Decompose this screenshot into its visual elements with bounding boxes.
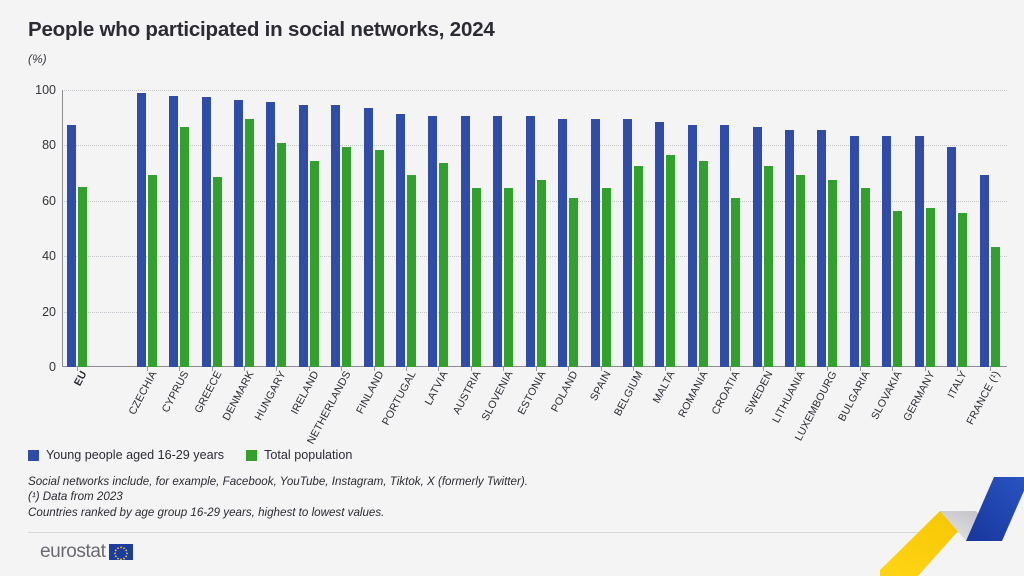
bar xyxy=(375,150,384,367)
bar xyxy=(699,161,708,367)
bar xyxy=(428,116,437,367)
x-axis-category-label: ROMANIA xyxy=(676,369,710,420)
bar xyxy=(655,122,664,367)
bar-group xyxy=(817,90,837,367)
bar xyxy=(234,100,243,367)
bar xyxy=(850,136,859,367)
bar-series-container xyxy=(63,90,1007,367)
bar xyxy=(817,130,826,367)
x-axis-category-label: POLAND xyxy=(549,369,581,414)
bar xyxy=(67,125,76,367)
bar xyxy=(439,163,448,367)
y-axis-tick-label: 0 xyxy=(49,360,56,374)
bar-group xyxy=(137,90,157,367)
bar xyxy=(277,143,286,367)
x-axis-category-label: SLOVENIA xyxy=(480,369,516,423)
bar-group xyxy=(461,90,481,367)
x-axis-category-label: FRANCE (¹) xyxy=(964,369,1002,427)
x-axis-category-label: LATVIA xyxy=(423,369,451,407)
bar xyxy=(364,108,373,367)
bar xyxy=(461,116,470,367)
bar xyxy=(213,177,222,367)
plot-area xyxy=(62,90,1007,367)
bar xyxy=(958,213,967,367)
x-axis-category-label: SPAIN xyxy=(588,369,614,403)
bar xyxy=(245,119,254,367)
bar-group xyxy=(266,90,286,367)
bar-group xyxy=(980,90,1000,367)
x-axis-category-label: ESTONIA xyxy=(515,369,548,417)
footnote-line: (¹) Data from 2023 xyxy=(28,489,528,504)
bar xyxy=(493,116,502,367)
bar xyxy=(980,175,989,368)
bar xyxy=(537,180,546,367)
bar xyxy=(569,198,578,367)
y-axis-tick-label: 60 xyxy=(42,194,56,208)
x-axis-category-label: FINLAND xyxy=(354,369,387,416)
page-title: People who participated in social networ… xyxy=(28,18,495,42)
x-axis-category-label: SWEDEN xyxy=(742,369,775,417)
unit-label: (%) xyxy=(28,52,47,66)
y-axis-tick-label: 40 xyxy=(42,249,56,263)
x-axis-category-label: IRELAND xyxy=(289,369,322,416)
chart-legend: Young people aged 16-29 yearsTotal popul… xyxy=(28,448,352,462)
bar xyxy=(915,136,924,367)
bar-group xyxy=(493,90,513,367)
bar xyxy=(169,96,178,367)
x-axis-category-label: BULGARIA xyxy=(836,369,873,423)
legend-total-population[interactable]: Total population xyxy=(246,448,352,462)
bar-group xyxy=(331,90,351,367)
legend-young-people[interactable]: Young people aged 16-29 years xyxy=(28,448,224,462)
x-axis-category-label: LITHUANIA xyxy=(770,369,807,425)
x-axis-category-label: CYPRUS xyxy=(160,369,192,415)
bar-group xyxy=(850,90,870,367)
x-axis-category-label: GREECE xyxy=(192,369,224,415)
x-axis-category-labels: EUCZECHIACYPRUSGREECEDENMARKHUNGARYIRELA… xyxy=(62,369,1007,439)
bar xyxy=(472,188,481,367)
y-axis-tick-label: 80 xyxy=(42,138,56,152)
bar xyxy=(753,127,762,367)
legend-label: Total population xyxy=(264,448,352,462)
chart-page: People who participated in social networ… xyxy=(0,0,1024,576)
eurostat-logo: eurostat xyxy=(40,541,133,563)
legend-label: Young people aged 16-29 years xyxy=(46,448,224,462)
bar xyxy=(623,119,632,367)
bar-group xyxy=(558,90,578,367)
bar xyxy=(266,102,275,367)
y-axis-labels: 020406080100 xyxy=(0,90,56,367)
footnote-line: Countries ranked by age group 16-29 year… xyxy=(28,505,528,520)
bar xyxy=(861,188,870,367)
bar-group xyxy=(202,90,222,367)
bar-group xyxy=(67,90,87,367)
y-axis-tick-label: 20 xyxy=(42,305,56,319)
bar-group xyxy=(364,90,384,367)
x-axis-category-label: AUSTRIA xyxy=(451,369,484,416)
x-axis-category-label: MALTA xyxy=(651,369,678,405)
bar-group xyxy=(915,90,935,367)
chart-footnotes: Social networks include, for example, Fa… xyxy=(28,474,528,520)
bar xyxy=(828,180,837,367)
bar-group xyxy=(234,90,254,367)
bar-group xyxy=(753,90,773,367)
bar xyxy=(731,198,740,367)
x-axis-category-label: BELGIUM xyxy=(612,369,646,418)
bar xyxy=(785,130,794,367)
bar-group xyxy=(785,90,805,367)
bar-group xyxy=(591,90,611,367)
bar xyxy=(602,188,611,367)
bar xyxy=(796,175,805,368)
bar xyxy=(893,211,902,368)
bar-group xyxy=(299,90,319,367)
bar xyxy=(634,166,643,367)
bar xyxy=(180,127,189,367)
bar xyxy=(202,97,211,367)
decorative-corner-graphic xyxy=(880,455,1024,576)
bar-group xyxy=(882,90,902,367)
y-axis-tick-label: 100 xyxy=(35,83,56,97)
bar xyxy=(688,125,697,367)
bar-group xyxy=(688,90,708,367)
bar-group xyxy=(947,90,967,367)
bar xyxy=(299,105,308,367)
bar xyxy=(342,147,351,367)
bar xyxy=(666,155,675,367)
bar-group xyxy=(428,90,448,367)
eu-flag-icon xyxy=(109,544,133,560)
bar-group xyxy=(623,90,643,367)
bar-group xyxy=(169,90,189,367)
bar xyxy=(407,175,416,368)
bar xyxy=(947,147,956,367)
x-axis-category-label: SLOVAKIA xyxy=(869,369,905,422)
legend-swatch-icon xyxy=(28,450,39,461)
bar-group xyxy=(655,90,675,367)
bar-group xyxy=(396,90,416,367)
bar xyxy=(396,114,405,367)
x-axis-category-label: GERMANY xyxy=(901,369,937,423)
bar-group xyxy=(526,90,546,367)
bar xyxy=(764,166,773,367)
x-axis-category-label: CROATIA xyxy=(710,369,743,417)
x-axis-category-label: HUNGARY xyxy=(253,369,289,422)
bar xyxy=(310,161,319,367)
bar xyxy=(720,125,729,367)
bar xyxy=(591,119,600,367)
x-axis-category-label: ITALY xyxy=(946,369,970,400)
bar xyxy=(137,93,146,367)
x-axis-category-label: PORTUGAL xyxy=(380,369,419,427)
bar xyxy=(504,188,513,367)
bar xyxy=(78,187,87,367)
footnote-line: Social networks include, for example, Fa… xyxy=(28,474,528,489)
bar-group xyxy=(720,90,740,367)
x-axis-category-label: DENMARK xyxy=(220,369,256,423)
bar xyxy=(331,105,340,367)
bar xyxy=(558,119,567,367)
bar xyxy=(526,116,535,367)
bar xyxy=(148,175,157,368)
x-axis-category-label: EU xyxy=(72,369,90,388)
bar xyxy=(926,208,935,367)
footer-divider xyxy=(28,532,996,533)
bar xyxy=(882,136,891,367)
legend-swatch-icon xyxy=(246,450,257,461)
bar xyxy=(991,247,1000,367)
eurostat-logo-text: eurostat xyxy=(40,541,105,563)
x-axis-category-label: CZECHIA xyxy=(126,369,159,417)
